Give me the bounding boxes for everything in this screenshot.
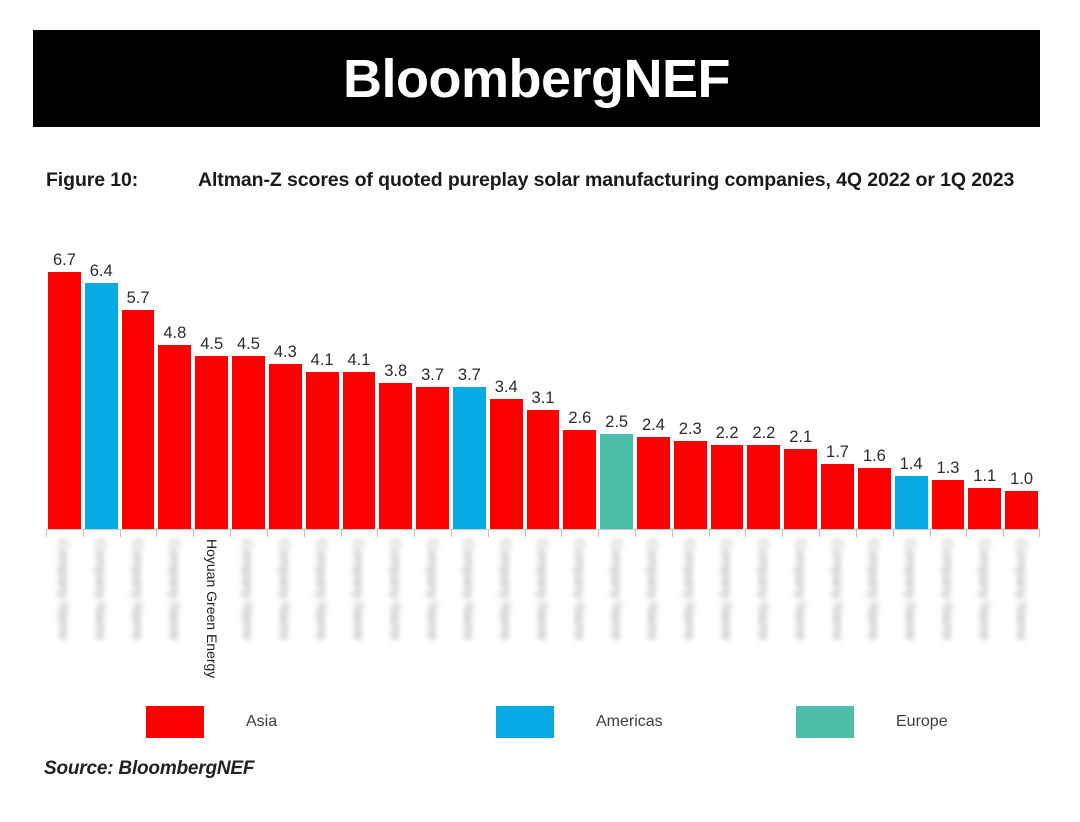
category-label-slot-16: Company Name — [598, 537, 635, 702]
category-label-redacted: Company Name — [720, 539, 734, 640]
bar-16[interactable]: 2.5 — [598, 248, 635, 530]
category-label-redacted: Company Name — [352, 539, 366, 640]
category-label-redacted: Company Name — [757, 539, 771, 640]
bar-20[interactable]: 2.2 — [745, 248, 782, 530]
legend-item-americas[interactable]: Americas — [496, 706, 663, 738]
bar-rect-asia[interactable] — [932, 480, 965, 530]
chart-legend: AsiaAmericasEurope — [46, 706, 1040, 746]
axis-tick — [120, 530, 121, 537]
legend-item-europe[interactable]: Europe — [796, 706, 948, 738]
bar-rect-asia[interactable] — [711, 445, 744, 530]
bar-6[interactable]: 4.5 — [230, 248, 267, 530]
bar-value-label: 1.0 — [1010, 470, 1033, 489]
bar-rect-asia[interactable] — [490, 399, 523, 530]
bar-value-label: 2.6 — [568, 409, 591, 428]
bar-11[interactable]: 3.7 — [414, 248, 451, 530]
bar-23[interactable]: 1.6 — [856, 248, 893, 530]
category-label-slot-15: Company Name — [561, 537, 598, 702]
bar-rect-americas[interactable] — [453, 387, 486, 530]
bar-25[interactable]: 1.3 — [930, 248, 967, 530]
category-label-slot-8: Company Name — [304, 537, 341, 702]
category-label-slot-2: Company Name — [83, 537, 120, 702]
bar-4[interactable]: 4.8 — [156, 248, 193, 530]
axis-tick — [341, 530, 342, 537]
category-label-redacted: Company Name — [867, 539, 881, 640]
category-label-slot-9: Company Name — [341, 537, 378, 702]
category-label-slot-18: Company Name — [672, 537, 709, 702]
axis-tick — [709, 530, 710, 537]
bar-19[interactable]: 2.2 — [709, 248, 746, 530]
bar-value-label: 3.8 — [384, 362, 407, 381]
bar-value-label: 4.1 — [311, 351, 334, 370]
bar-value-label: 4.5 — [237, 335, 260, 354]
source-note: Source: BloombergNEF — [44, 758, 254, 780]
category-label-slot-7: Company Name — [267, 537, 304, 702]
bar-chart: 6.76.45.74.84.54.54.34.14.13.83.73.73.43… — [46, 248, 1040, 530]
category-label-redacted: Company Name — [389, 539, 403, 640]
axis-tick — [561, 530, 562, 537]
bar-8[interactable]: 4.1 — [304, 248, 341, 530]
legend-label-americas: Americas — [596, 713, 663, 731]
category-label-redacted: Company Name — [131, 539, 145, 640]
bar-rect-asia[interactable] — [343, 372, 376, 530]
axis-tick — [598, 530, 599, 537]
bar-21[interactable]: 2.1 — [782, 248, 819, 530]
category-label-slot-24: Company Name — [893, 537, 930, 702]
axis-tick — [377, 530, 378, 537]
bar-value-label: 1.4 — [900, 455, 923, 474]
bar-rect-asia[interactable] — [416, 387, 449, 530]
category-label-slot-17: Company Name — [635, 537, 672, 702]
bar-9[interactable]: 4.1 — [341, 248, 378, 530]
category-label-redacted: Company Name — [94, 539, 108, 640]
axis-tick — [414, 530, 415, 537]
bar-rect-europe[interactable] — [600, 434, 633, 530]
bar-rect-asia[interactable] — [527, 410, 560, 530]
bar-value-label: 5.7 — [127, 289, 150, 308]
bar-7[interactable]: 4.3 — [267, 248, 304, 530]
bar-value-label: 4.1 — [347, 351, 370, 370]
plot-area: 6.76.45.74.84.54.54.34.14.13.83.73.73.43… — [46, 248, 1040, 530]
bar-12[interactable]: 3.7 — [451, 248, 488, 530]
axis-tick — [267, 530, 268, 537]
category-label-redacted: Company Name — [646, 539, 660, 640]
bar-rect-asia[interactable] — [674, 441, 707, 530]
legend-swatch-americas — [496, 706, 554, 738]
category-label-slot-12: Company Name — [451, 537, 488, 702]
category-label-redacted: Company Name — [168, 539, 182, 640]
bar-26[interactable]: 1.1 — [966, 248, 1003, 530]
axis-tick — [635, 530, 636, 537]
axis-tick — [856, 530, 857, 537]
bar-rect-asia[interactable] — [968, 488, 1001, 530]
axis-tick — [1039, 530, 1040, 537]
brand-wordmark: BloombergNEF — [343, 52, 730, 106]
x-axis-ticks — [46, 530, 1040, 537]
category-label-slot-5: Hoyuan Green Energy — [193, 537, 230, 702]
bar-5[interactable]: 4.5 — [193, 248, 230, 530]
axis-tick — [819, 530, 820, 537]
bar-value-label: 1.6 — [863, 447, 886, 466]
category-label-redacted: Company Name — [683, 539, 697, 640]
figure-title-text: Altman-Z scores of quoted pureplay solar… — [198, 169, 1014, 191]
axis-tick — [156, 530, 157, 537]
category-label-slot-3: Company Name — [120, 537, 157, 702]
x-axis-category-labels: Company NameCompany NameCompany NameComp… — [46, 537, 1040, 702]
bar-value-label: 1.3 — [936, 459, 959, 478]
category-label-slot-10: Company Name — [377, 537, 414, 702]
axis-tick — [193, 530, 194, 537]
bar-rect-asia[interactable] — [269, 364, 302, 530]
bar-value-label: 3.7 — [421, 366, 444, 385]
bar-value-label: 2.3 — [679, 420, 702, 439]
category-label-redacted: Company Name — [941, 539, 955, 640]
category-label-slot-26: Company Name — [966, 537, 1003, 702]
bar-24[interactable]: 1.4 — [893, 248, 930, 530]
axis-tick — [1003, 530, 1004, 537]
category-label-slot-21: Company Name — [782, 537, 819, 702]
category-label-redacted: Company Name — [57, 539, 71, 640]
bar-rect-asia[interactable] — [48, 272, 81, 530]
bar-rect-asia[interactable] — [563, 430, 596, 530]
category-label-redacted: Company Name — [904, 539, 918, 640]
bar-rect-asia[interactable] — [821, 464, 854, 530]
category-label-slot-25: Company Name — [930, 537, 967, 702]
bar-value-label: 3.7 — [458, 366, 481, 385]
figure-number-label: Figure 10: — [46, 166, 198, 194]
category-label-redacted: Company Name — [1015, 539, 1029, 640]
bar-2[interactable]: 6.4 — [83, 248, 120, 530]
axis-tick — [966, 530, 967, 537]
category-label-slot-1: Company Name — [46, 537, 83, 702]
category-label-redacted: Company Name — [831, 539, 845, 640]
bar-rect-asia[interactable] — [379, 383, 412, 530]
bar-27[interactable]: 1.0 — [1003, 248, 1040, 530]
category-label-slot-4: Company Name — [156, 537, 193, 702]
bar-rect-americas[interactable] — [85, 283, 118, 530]
category-label-redacted: Company Name — [610, 539, 624, 640]
category-label-redacted: Company Name — [462, 539, 476, 640]
category-label-slot-6: Company Name — [230, 537, 267, 702]
bar-15[interactable]: 2.6 — [561, 248, 598, 530]
bar-value-label: 2.2 — [716, 424, 739, 443]
bar-value-label: 4.5 — [200, 335, 223, 354]
legend-swatch-europe — [796, 706, 854, 738]
bar-value-label: 6.4 — [90, 262, 113, 281]
bar-value-label: 2.5 — [605, 413, 628, 432]
bar-3[interactable]: 5.7 — [120, 248, 157, 530]
legend-item-asia[interactable]: Asia — [146, 706, 277, 738]
axis-tick — [930, 530, 931, 537]
bar-10[interactable]: 3.8 — [377, 248, 414, 530]
axis-tick — [782, 530, 783, 537]
category-label-redacted: Company Name — [278, 539, 292, 640]
bloombergnef-banner: BloombergNEF — [33, 30, 1040, 127]
bar-value-label: 3.1 — [532, 389, 555, 408]
bar-rect-asia[interactable] — [637, 437, 670, 530]
category-label-slot-27: Company Name — [1003, 537, 1040, 702]
axis-tick — [230, 530, 231, 537]
category-label-redacted: Company Name — [241, 539, 255, 640]
bar-rect-asia[interactable] — [306, 372, 339, 530]
bar-value-label: 4.3 — [274, 343, 297, 362]
axis-tick — [672, 530, 673, 537]
bar-22[interactable]: 1.7 — [819, 248, 856, 530]
legend-swatch-asia — [146, 706, 204, 738]
category-label-slot-14: Company Name — [525, 537, 562, 702]
category-label-redacted: Company Name — [315, 539, 329, 640]
bar-rect-asia[interactable] — [858, 468, 891, 530]
axis-tick — [893, 530, 894, 537]
axis-tick — [83, 530, 84, 537]
category-label-slot-20: Company Name — [745, 537, 782, 702]
bar-value-label: 3.4 — [495, 378, 518, 397]
axis-tick — [451, 530, 452, 537]
bar-rect-americas[interactable] — [895, 476, 928, 530]
category-label-slot-19: Company Name — [709, 537, 746, 702]
bar-value-label: 2.1 — [789, 428, 812, 447]
bar-17[interactable]: 2.4 — [635, 248, 672, 530]
axis-tick — [525, 530, 526, 537]
bar-14[interactable]: 3.1 — [525, 248, 562, 530]
bar-rect-asia[interactable] — [195, 356, 228, 530]
category-label-redacted: Company Name — [499, 539, 513, 640]
category-label-redacted: Company Name — [536, 539, 550, 640]
bar-rect-asia[interactable] — [232, 356, 265, 530]
bar-rect-asia[interactable] — [784, 449, 817, 530]
legend-label-asia: Asia — [246, 713, 277, 731]
bar-rect-asia[interactable] — [122, 310, 155, 530]
category-label-slot-11: Company Name — [414, 537, 451, 702]
bar-18[interactable]: 2.3 — [672, 248, 709, 530]
category-label-redacted: Company Name — [978, 539, 992, 640]
bar-value-label: 1.7 — [826, 443, 849, 462]
category-label-slot-13: Company Name — [488, 537, 525, 702]
bar-rect-asia[interactable] — [747, 445, 780, 530]
bar-rect-asia[interactable] — [1005, 491, 1038, 530]
bar-value-label: 6.7 — [53, 251, 76, 270]
bar-value-label: 1.1 — [973, 467, 996, 486]
category-label-slot-23: Company Name — [856, 537, 893, 702]
figure-title: Figure 10:Altman-Z scores of quoted pure… — [46, 166, 1036, 194]
bar-1[interactable]: 6.7 — [46, 248, 83, 530]
axis-tick — [488, 530, 489, 537]
category-label-redacted: Company Name — [426, 539, 440, 640]
bar-value-label: 4.8 — [163, 324, 186, 343]
bar-13[interactable]: 3.4 — [488, 248, 525, 530]
legend-label-europe: Europe — [896, 713, 948, 731]
axis-tick — [304, 530, 305, 537]
axis-tick — [46, 530, 47, 537]
category-label-slot-22: Company Name — [819, 537, 856, 702]
category-label: Hoyuan Green Energy — [205, 539, 219, 678]
category-label-redacted: Company Name — [794, 539, 808, 640]
bar-value-label: 2.2 — [752, 424, 775, 443]
axis-tick — [745, 530, 746, 537]
bar-rect-asia[interactable] — [158, 345, 191, 530]
bar-value-label: 2.4 — [642, 416, 665, 435]
category-label-redacted: Company Name — [573, 539, 587, 640]
